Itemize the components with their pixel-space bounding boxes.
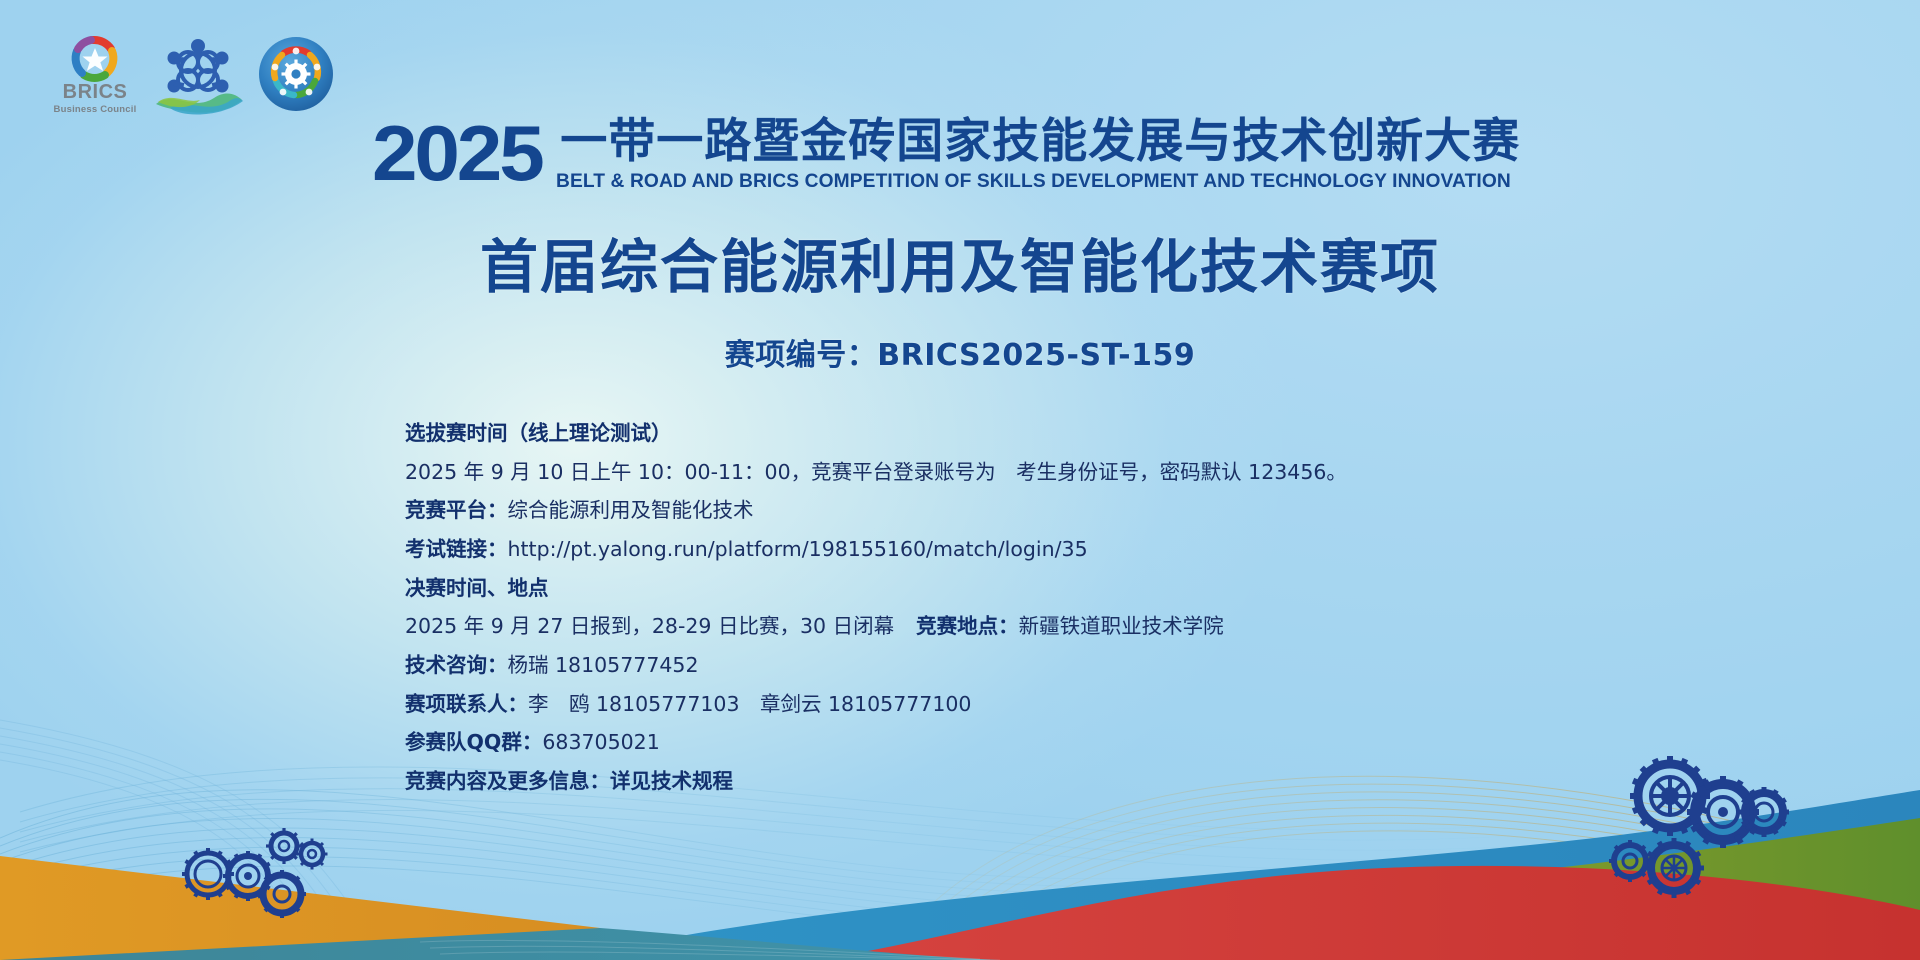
year-number: 2025 <box>372 118 542 188</box>
platform-label: 竞赛平台： <box>405 498 508 522</box>
competition-code: 赛项编号：BRICS2025-ST-159 <box>0 330 1920 374</box>
info-row-selection-detail: 2025 年 9 月 10 日上午 10：00-11：00，竞赛平台登录账号为 … <box>405 459 1585 487</box>
gear-cluster-left <box>178 812 328 932</box>
competition-code-value: BRICS2025-ST-159 <box>877 338 1195 373</box>
brics-logo-wordmark: BRICS <box>63 81 128 103</box>
competition-emblem-logo <box>258 36 334 112</box>
tech-support-label: 技术咨询： <box>405 653 508 677</box>
selection-time-heading: 选拔赛时间（线上理论测试） <box>405 421 672 445</box>
contacts-label: 赛项联系人： <box>405 692 528 716</box>
poster-canvas: BRICS Business Council <box>0 0 1920 960</box>
info-row-final-detail: 2025 年 9 月 27 日报到，28-29 日比赛，30 日闭幕竞赛地点：新… <box>405 613 1585 641</box>
competition-title-en: BELT & ROAD AND BRICS COMPETITION OF SKI… <box>556 170 1511 193</box>
logo-row: BRICS Business Council <box>52 34 334 118</box>
qq-group-label: 参赛队QQ群： <box>405 730 542 754</box>
tech-support-value: 杨瑞 18105777452 <box>508 653 699 677</box>
info-row-platform: 竞赛平台：综合能源利用及智能化技术 <box>405 497 1585 525</box>
gear-cluster-right <box>1590 748 1790 908</box>
info-row-contacts: 赛项联系人：李 鸥 18105777103 章剑云 18105777100 <box>405 691 1585 719</box>
platform-value: 综合能源利用及智能化技术 <box>508 498 754 522</box>
brics-skills-competition-logo <box>152 38 244 118</box>
info-row-tech-support: 技术咨询：杨瑞 18105777452 <box>405 652 1585 680</box>
qq-group-value: 683705021 <box>542 730 659 754</box>
brics-logo-subtext: Business Council <box>54 104 137 115</box>
final-time-heading: 决赛时间、地点 <box>405 576 549 600</box>
contacts-value: 李 鸥 18105777103 章剑云 18105777100 <box>528 692 971 716</box>
final-time-detail: 2025 年 9 月 27 日报到，28-29 日比赛，30 日闭幕 <box>405 614 894 638</box>
info-block: 选拔赛时间（线上理论测试） 2025 年 9 月 10 日上午 10：00-11… <box>405 420 1585 796</box>
venue-value: 新疆铁道职业技术学院 <box>1019 614 1224 638</box>
subject-title: 首届综合能源利用及智能化技术赛项 <box>0 235 1920 300</box>
info-row-final-heading: 决赛时间、地点 <box>405 575 1585 603</box>
info-row-exam-link: 考试链接：http://pt.yalong.run/platform/19815… <box>405 536 1585 564</box>
brics-business-council-logo: BRICS Business Council <box>52 34 138 118</box>
info-row-qq-group: 参赛队QQ群：683705021 <box>405 729 1585 757</box>
headline-row: 2025 一带一路暨金砖国家技能发展与技术创新大赛 BELT & ROAD AN… <box>372 118 1525 193</box>
selection-time-detail: 2025 年 9 月 10 日上午 10：00-11：00，竞赛平台登录账号为 … <box>405 460 1347 484</box>
info-row-selection-heading: 选拔赛时间（线上理论测试） <box>405 420 1585 448</box>
competition-title-cn: 一带一路暨金砖国家技能发展与技术创新大赛 <box>556 118 1525 167</box>
competition-code-label: 赛项编号： <box>725 338 878 373</box>
exam-link-label: 考试链接： <box>405 537 508 561</box>
exam-link-value[interactable]: http://pt.yalong.run/platform/198155160/… <box>508 537 1088 561</box>
venue-label: 竞赛地点： <box>916 614 1019 638</box>
